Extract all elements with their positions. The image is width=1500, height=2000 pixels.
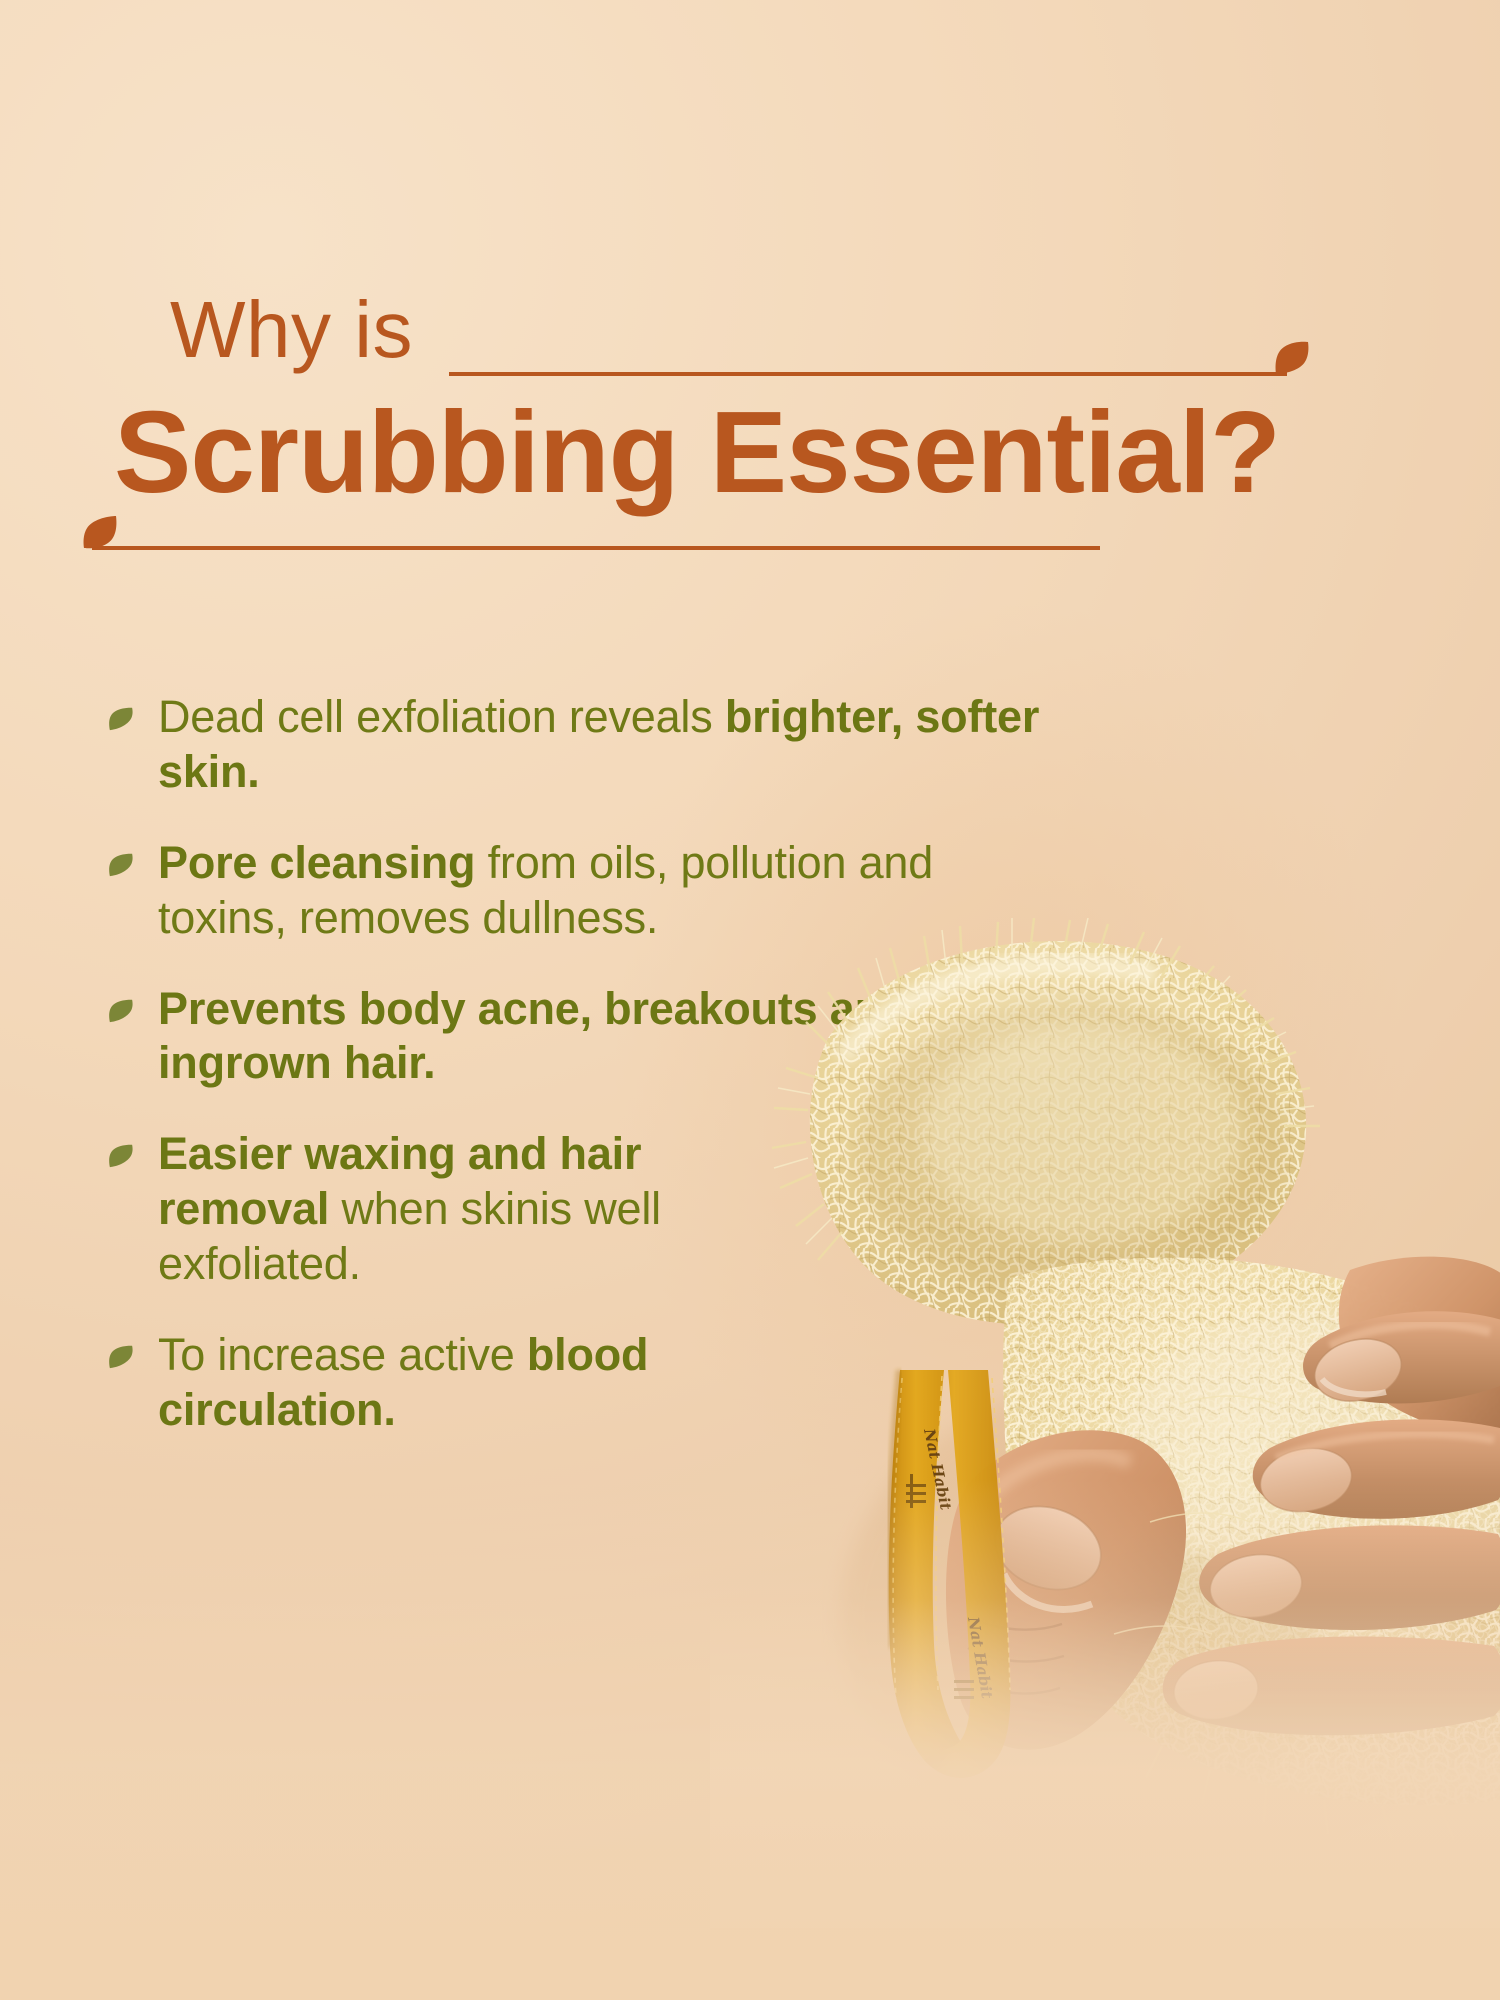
list-item: Dead cell exfoliation reveals brighter, … [108,690,1068,800]
list-item: Pore cleansing from oils, pollution and … [108,836,1068,946]
leaf-bullet-icon [108,706,134,732]
list-item-text: To increase active blood circulation. [158,1328,678,1438]
photo-bottom-fade [710,1598,1500,1928]
title-top-rule [449,372,1287,376]
poster-canvas: Why is Scrubbing Essential? Dead cell ex… [0,0,1500,2000]
benefits-list: Dead cell exfoliation reveals brighter, … [108,690,1068,1474]
title-bottom-rule [92,546,1100,550]
background-bottom-fade [0,1480,1500,2000]
list-item-segment: Dead cell exfoliation reveals [158,691,725,742]
title-kicker: Why is [170,290,413,370]
leaf-bullet-icon [108,1344,134,1370]
list-item-segment-bold: Prevents body acne, breakouts and ingrow… [158,983,909,1089]
list-item: Easier waxing and hair removal when skin… [108,1127,1068,1292]
list-item-segment-bold: Pore cleansing [158,837,475,888]
page-title: Scrubbing Essential? [114,388,1280,518]
leaf-bullet-icon [108,1143,134,1169]
list-item: Prevents body acne, breakouts and ingrow… [108,982,1068,1092]
brand-tag-text: Nat Habit [964,1615,996,1701]
leaf-icon [1274,340,1310,376]
list-item-text: Pore cleansing from oils, pollution and … [158,836,1068,946]
leaf-bullet-icon [108,998,134,1024]
leaf-icon [82,514,118,550]
title-main-row: Scrubbing Essential? [92,394,1272,544]
list-item-text: Dead cell exfoliation reveals brighter, … [158,690,1068,800]
list-item-text: Prevents body acne, breakouts and ingrow… [158,982,1068,1092]
title-block: Why is Scrubbing Essential? [92,296,1272,544]
leaf-bullet-icon [108,852,134,878]
list-item-segment: To increase active [158,1329,527,1380]
title-kicker-row: Why is [92,296,1272,392]
list-item-text: Easier waxing and hair removal when skin… [158,1127,778,1292]
list-item: To increase active blood circulation. [108,1328,1068,1438]
